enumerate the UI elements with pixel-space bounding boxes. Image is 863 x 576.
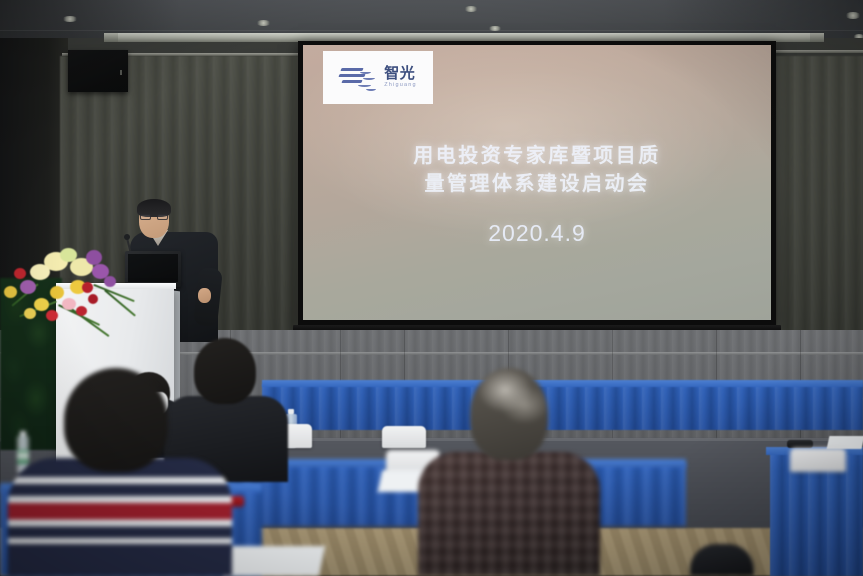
attendee-dark-suit-head (194, 338, 256, 404)
ceiling-light-icon (62, 16, 78, 22)
roller-cap-right (810, 33, 824, 42)
presenter-hand (198, 288, 211, 303)
attendee-gray-hair-head (470, 368, 548, 460)
slide-logo-card: 智光 Zhiguang (323, 51, 433, 104)
conference-room-photo: 智光 Zhiguang 用电投资专家库暨项目质 量管理体系建设启动会 2020.… (0, 0, 863, 576)
slide-date: 2020.4.9 (303, 220, 771, 247)
logo-pinyin: Zhiguang (384, 83, 417, 89)
slide-title-line1: 用电投资专家库暨项目质 (303, 141, 771, 169)
ceiling-light-icon (464, 6, 478, 12)
ceiling-light-icon (488, 26, 502, 31)
attendee-striped-sweater-head (64, 368, 168, 472)
slide-title-line2: 量管理体系建设启动会 (303, 169, 771, 197)
chair[interactable] (790, 448, 846, 472)
table-row (262, 384, 863, 430)
attendee-gray-hair-body (418, 452, 600, 576)
ceiling-light-icon (256, 20, 271, 26)
ceiling-light-icon (845, 12, 861, 19)
flower-arrangement-icon (0, 246, 148, 342)
dark-device-icon (787, 440, 813, 448)
glasses-icon (140, 214, 168, 220)
chair[interactable] (382, 426, 426, 448)
table-top (262, 380, 863, 387)
roller-cap-left (104, 33, 118, 42)
speaker-led-icon (120, 70, 122, 75)
microphone-head-icon (124, 234, 130, 240)
slide-logo-text: 智光 Zhiguang (384, 66, 417, 89)
attendee-striped-sweater-body (8, 458, 232, 576)
ceiling-seam (0, 30, 863, 31)
wave-bars-icon (339, 63, 379, 93)
projected-slide: 智光 Zhiguang 用电投资专家库暨项目质 量管理体系建设启动会 2020.… (303, 45, 771, 320)
slide-title: 用电投资专家库暨项目质 量管理体系建设启动会 (303, 141, 771, 198)
logo-chinese-name: 智光 (384, 66, 415, 81)
paper-sheet-icon (223, 546, 325, 576)
wall-speaker-icon (68, 50, 128, 92)
projection-screen: 智光 Zhiguang 用电投资专家库暨项目质 量管理体系建设启动会 2020.… (298, 41, 776, 329)
